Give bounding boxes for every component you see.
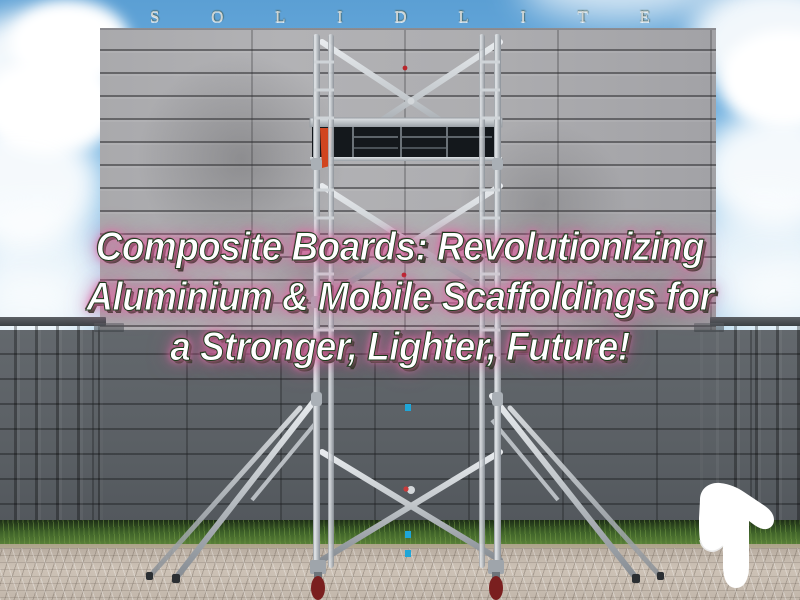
banner-image: S O L I D L I T E: [0, 0, 800, 600]
fence-panel-left-2: [100, 330, 118, 536]
cobblestone-pavement: [0, 548, 800, 600]
fence-panel-left: [0, 324, 100, 536]
hand-pointing-down-icon[interactable]: [686, 470, 782, 592]
